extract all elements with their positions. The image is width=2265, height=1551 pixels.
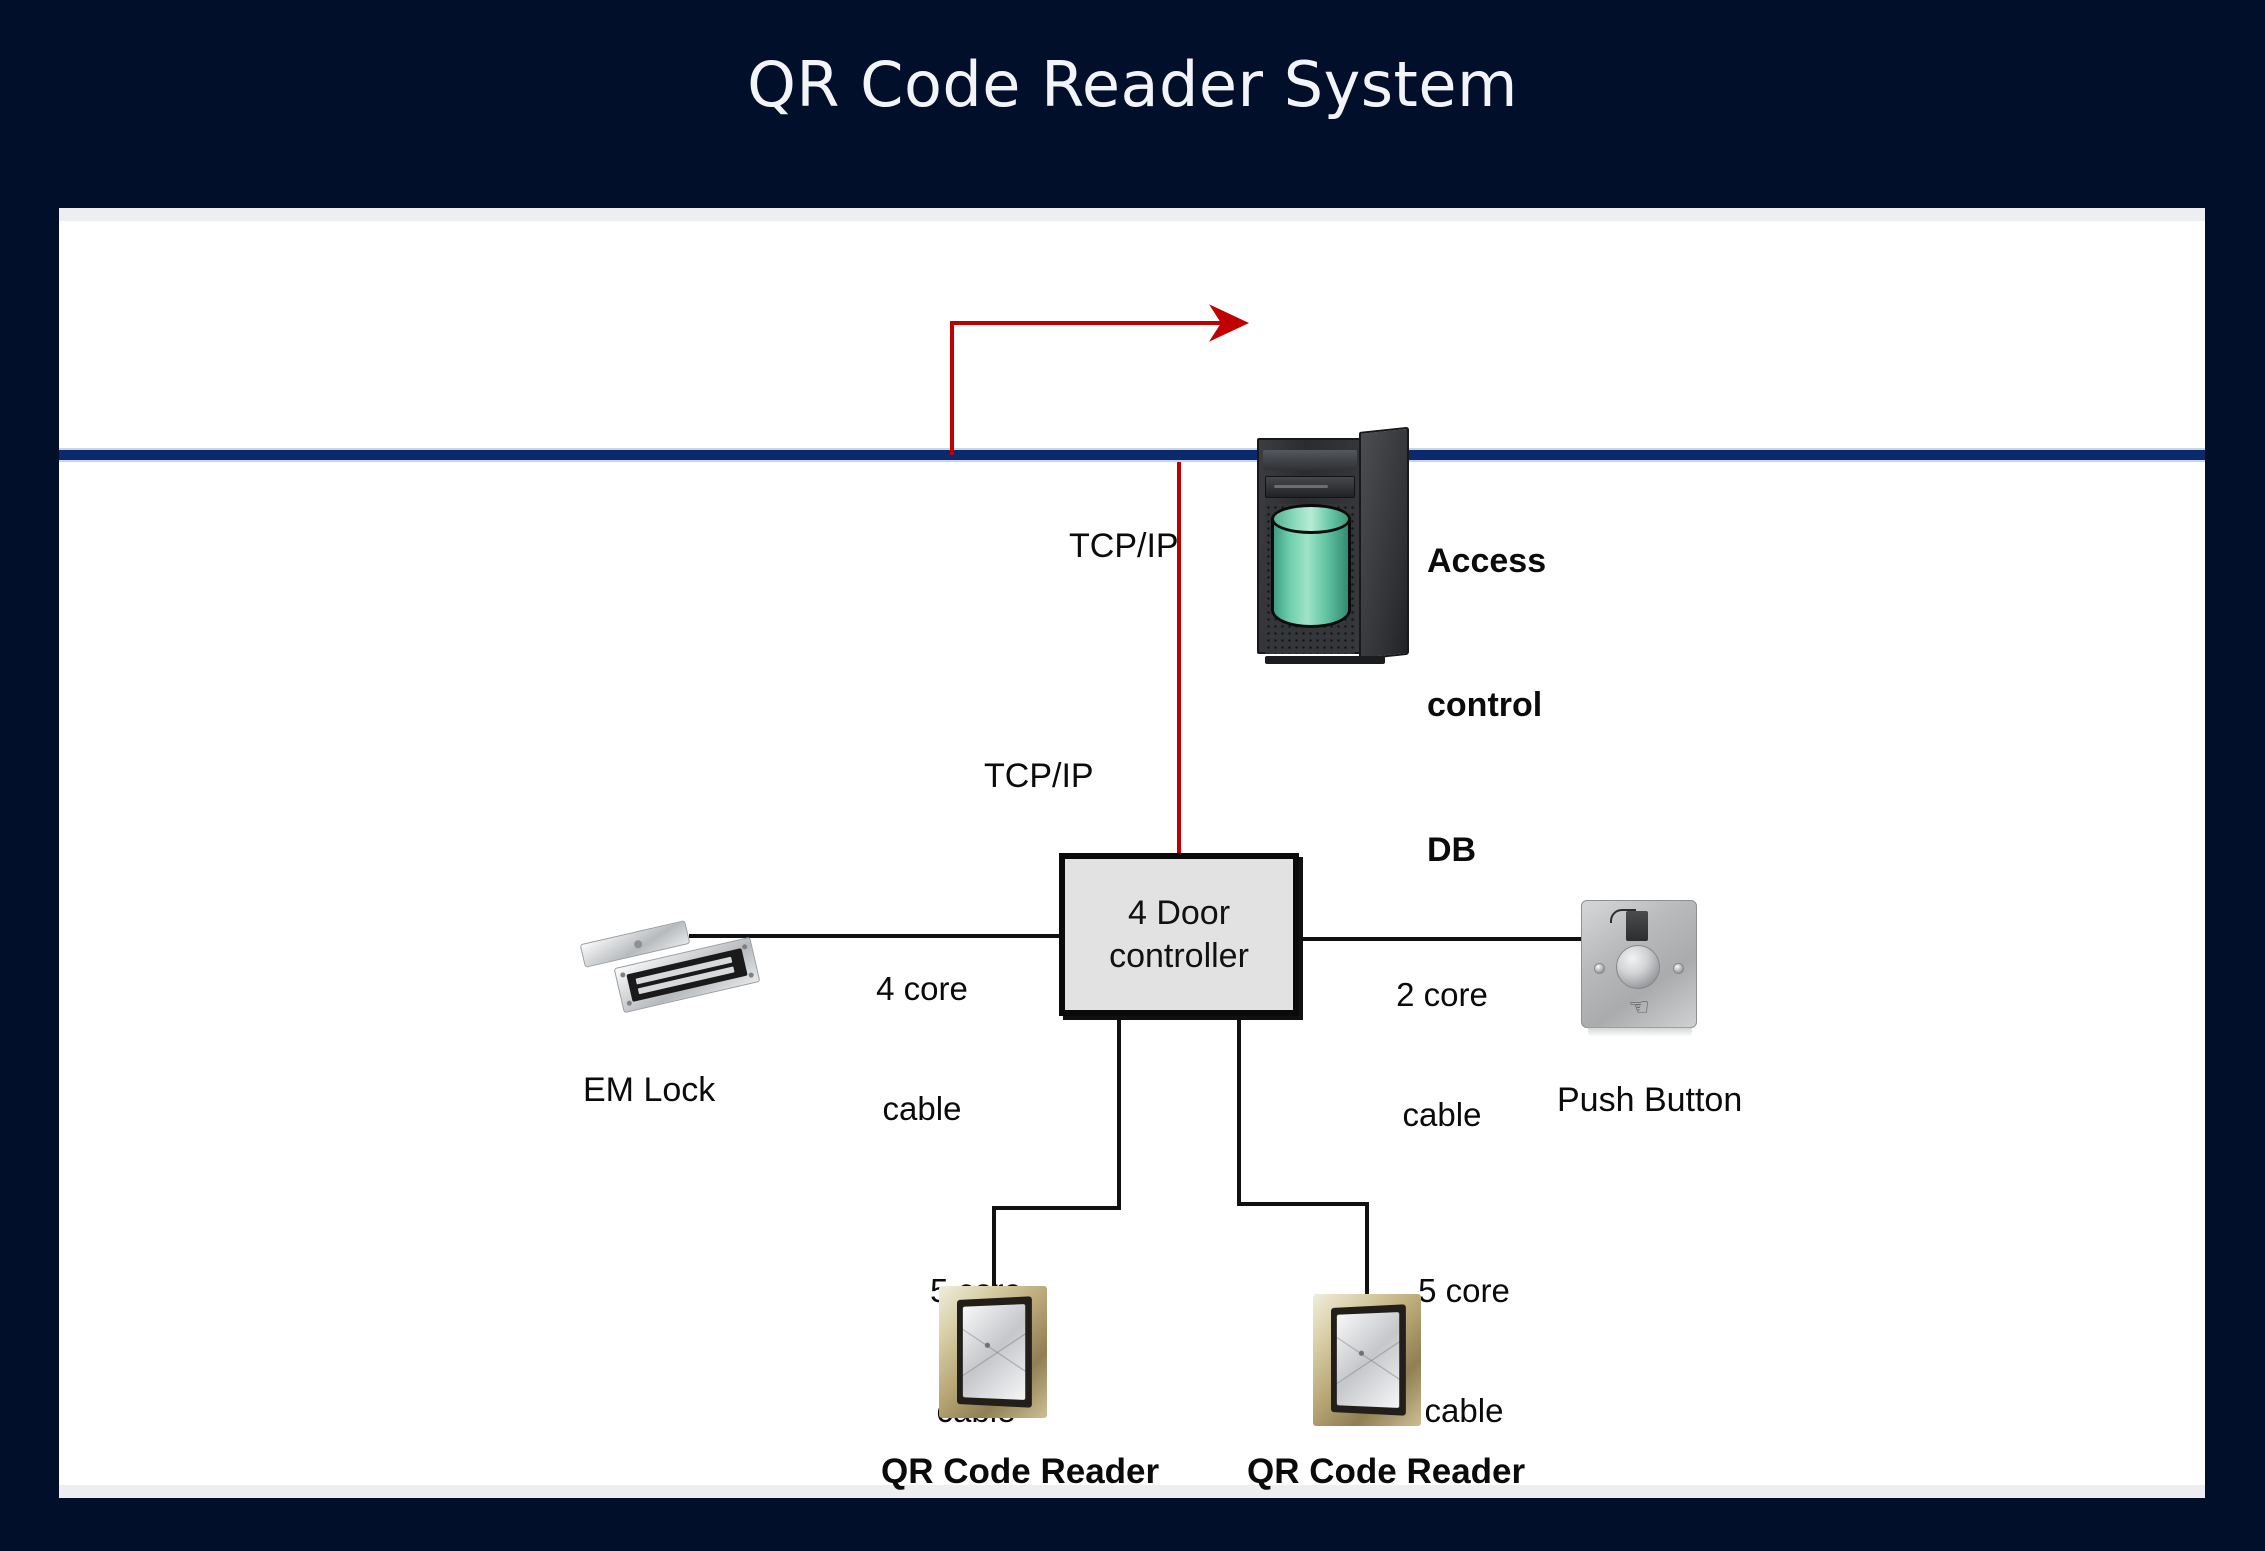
- hand-press-icon: ☜: [1626, 995, 1652, 1021]
- database-cylinder-top: [1271, 504, 1351, 534]
- qr-code-reader-left-label: QR Code Reader: [881, 1451, 1159, 1494]
- server-base: [1265, 656, 1385, 664]
- em-lock-label: EM Lock: [583, 1070, 715, 1111]
- em-lock-screw: [742, 944, 748, 950]
- qr-code-reader-right-label: QR Code Reader: [1247, 1451, 1525, 1494]
- door-controller-node[interactable]: 4 Door controller: [1059, 853, 1299, 1016]
- em-lock-core: [626, 948, 747, 1002]
- qr-reader-bezel: [957, 1296, 1032, 1407]
- button-cable-label: 2 core cable: [1367, 894, 1517, 1216]
- server-top-bar: [1263, 450, 1357, 470]
- slide-canvas: QR Code Reader System: [0, 0, 2265, 1551]
- diagram-panel: Access control DB TCP/IP TCP/IP 4 core c…: [59, 208, 2205, 1498]
- push-button-screw: [1673, 963, 1684, 974]
- em-lock-screw: [626, 1000, 632, 1006]
- push-button-door-graphic: [1626, 911, 1648, 941]
- page-title: QR Code Reader System: [0, 48, 2265, 121]
- controller-label: 4 Door controller: [1109, 892, 1249, 977]
- em-lock-screw: [748, 972, 754, 978]
- qr-code-reader-left-icon[interactable]: [939, 1286, 1047, 1418]
- qr-code-reader-right-icon[interactable]: [1313, 1294, 1421, 1426]
- em-lock-icon: [579, 926, 769, 1036]
- push-button-reflection: [1588, 1027, 1692, 1037]
- access-control-db-server-icon: [1257, 432, 1409, 660]
- reader-right-cable-line: [1239, 1016, 1367, 1294]
- qr-reader-sensor-dot: [1359, 1351, 1364, 1356]
- qr-reader-bezel: [1331, 1304, 1406, 1415]
- push-button-knob[interactable]: [1616, 945, 1660, 989]
- push-button-label: Push Button: [1557, 1080, 1742, 1121]
- tcpip-red-link: [952, 323, 1245, 455]
- em-lock-screw: [620, 972, 626, 978]
- qr-reader-sensor-dot: [985, 1343, 990, 1348]
- push-button-screw: [1594, 963, 1605, 974]
- tcpip-top-label: TCP/IP: [1069, 526, 1179, 567]
- database-cylinder-icon: [1271, 504, 1351, 636]
- server-optical-drive: [1265, 476, 1355, 498]
- lock-cable-label: 4 core cable: [847, 888, 997, 1210]
- push-button-icon[interactable]: ☜: [1581, 900, 1697, 1028]
- qr-reader-scan-face: [1337, 1312, 1399, 1408]
- qr-reader-scan-face: [963, 1304, 1025, 1400]
- tcpip-middle-label: TCP/IP: [984, 756, 1094, 797]
- access-control-db-label: Access control DB: [1427, 440, 1546, 971]
- database-cylinder-body: [1271, 518, 1351, 628]
- server-side-panel: [1359, 427, 1409, 660]
